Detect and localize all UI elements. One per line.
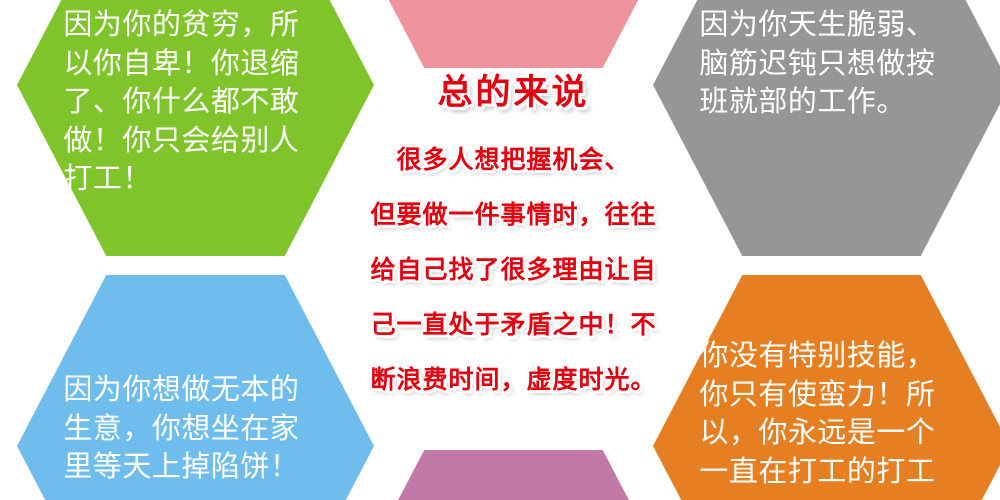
hexagon-text-bottom-right: 你没有特别技能， 你只有使蛮力！所 以，你永远是一个 一直在打工的打工 [699, 337, 963, 491]
summary-line: 断浪费时间，虚度时光。 [335, 366, 692, 395]
summary-text-list: 很多人想把握机会、 但要做一件事情时，往往 给自己找了很多理由让自 己一直处于矛… [335, 146, 692, 395]
hexagon-cell-top-left-green: 因为你的贫穷，所 以你自卑！你退缩 了、你什么都不敢 做！你只会给别人 打工！ [17, 0, 374, 256]
summary-line: 给自己找了很多理由让自 [335, 256, 692, 285]
hexagon-text-top-right: 因为你天生脆弱、 脑筋迟钝只想做按 班就部的工作。 [699, 6, 963, 122]
summary-line: 很多人想把握机会、 [335, 146, 692, 175]
poster-title: 总的来说 [335, 72, 692, 114]
hexagon-text-top-left: 因为你的贫穷，所 以你自卑！你退缩 了、你什么都不敢 做！你只会给别人 打工！ [63, 6, 327, 199]
hexagon-cell-bottom-right-orange: 你没有特别技能， 你只有使蛮力！所 以，你永远是一个 一直在打工的打工 [653, 275, 1000, 500]
hexagon-cell-top-right-grey: 因为你天生脆弱、 脑筋迟钝只想做按 班就部的工作。 [653, 0, 1000, 256]
infographic-canvas: 因为你的贫穷，所 以你自卑！你退缩 了、你什么都不敢 做！你只会给别人 打工！ … [0, 0, 1000, 500]
hexagon-text-bottom-left: 因为你想做无本的 生意，你想坐在家 里等天上掉陷饼！ [63, 371, 327, 487]
center-summary-block: 总的来说 很多人想把握机会、 但要做一件事情时，往往 给自己找了很多理由让自 己… [335, 72, 692, 395]
hexagon-cell-bottom-center-purple [335, 450, 692, 500]
hexagon-cell-bottom-left-blue: 因为你想做无本的 生意，你想坐在家 里等天上掉陷饼！ [17, 275, 374, 500]
summary-line: 己一直处于矛盾之中！不 [335, 311, 692, 340]
hexagon-cell-top-center-pink [335, 0, 692, 68]
summary-line: 但要做一件事情时，往往 [335, 201, 692, 230]
